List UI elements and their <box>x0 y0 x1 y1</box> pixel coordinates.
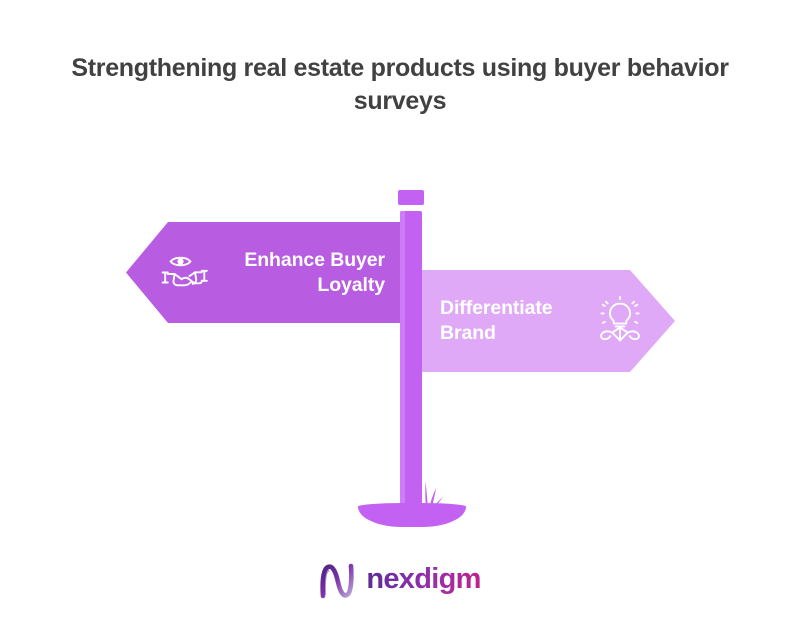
signpost-ground-mound <box>358 503 466 527</box>
lightbulb-idea-icon <box>595 296 645 346</box>
signpost-pole <box>400 211 422 513</box>
signpost-diagram: Enhance Buyer Loyalty Differentiate Bran… <box>0 0 800 632</box>
nexdigm-wordmark: nexdigm <box>366 565 480 597</box>
sign-right-label: Differentiate Brand <box>440 296 585 346</box>
eye-handshake-icon <box>160 248 210 298</box>
sign-differentiate-brand[interactable]: Differentiate Brand <box>420 270 675 372</box>
sign-enhance-buyer-loyalty[interactable]: Enhance Buyer Loyalty <box>126 222 403 323</box>
signpost-cap <box>398 190 424 205</box>
sign-left-label: Enhance Buyer Loyalty <box>224 248 385 298</box>
nexdigm-n-mark-icon <box>319 561 357 601</box>
nexdigm-logo: nexdigm <box>0 561 800 601</box>
